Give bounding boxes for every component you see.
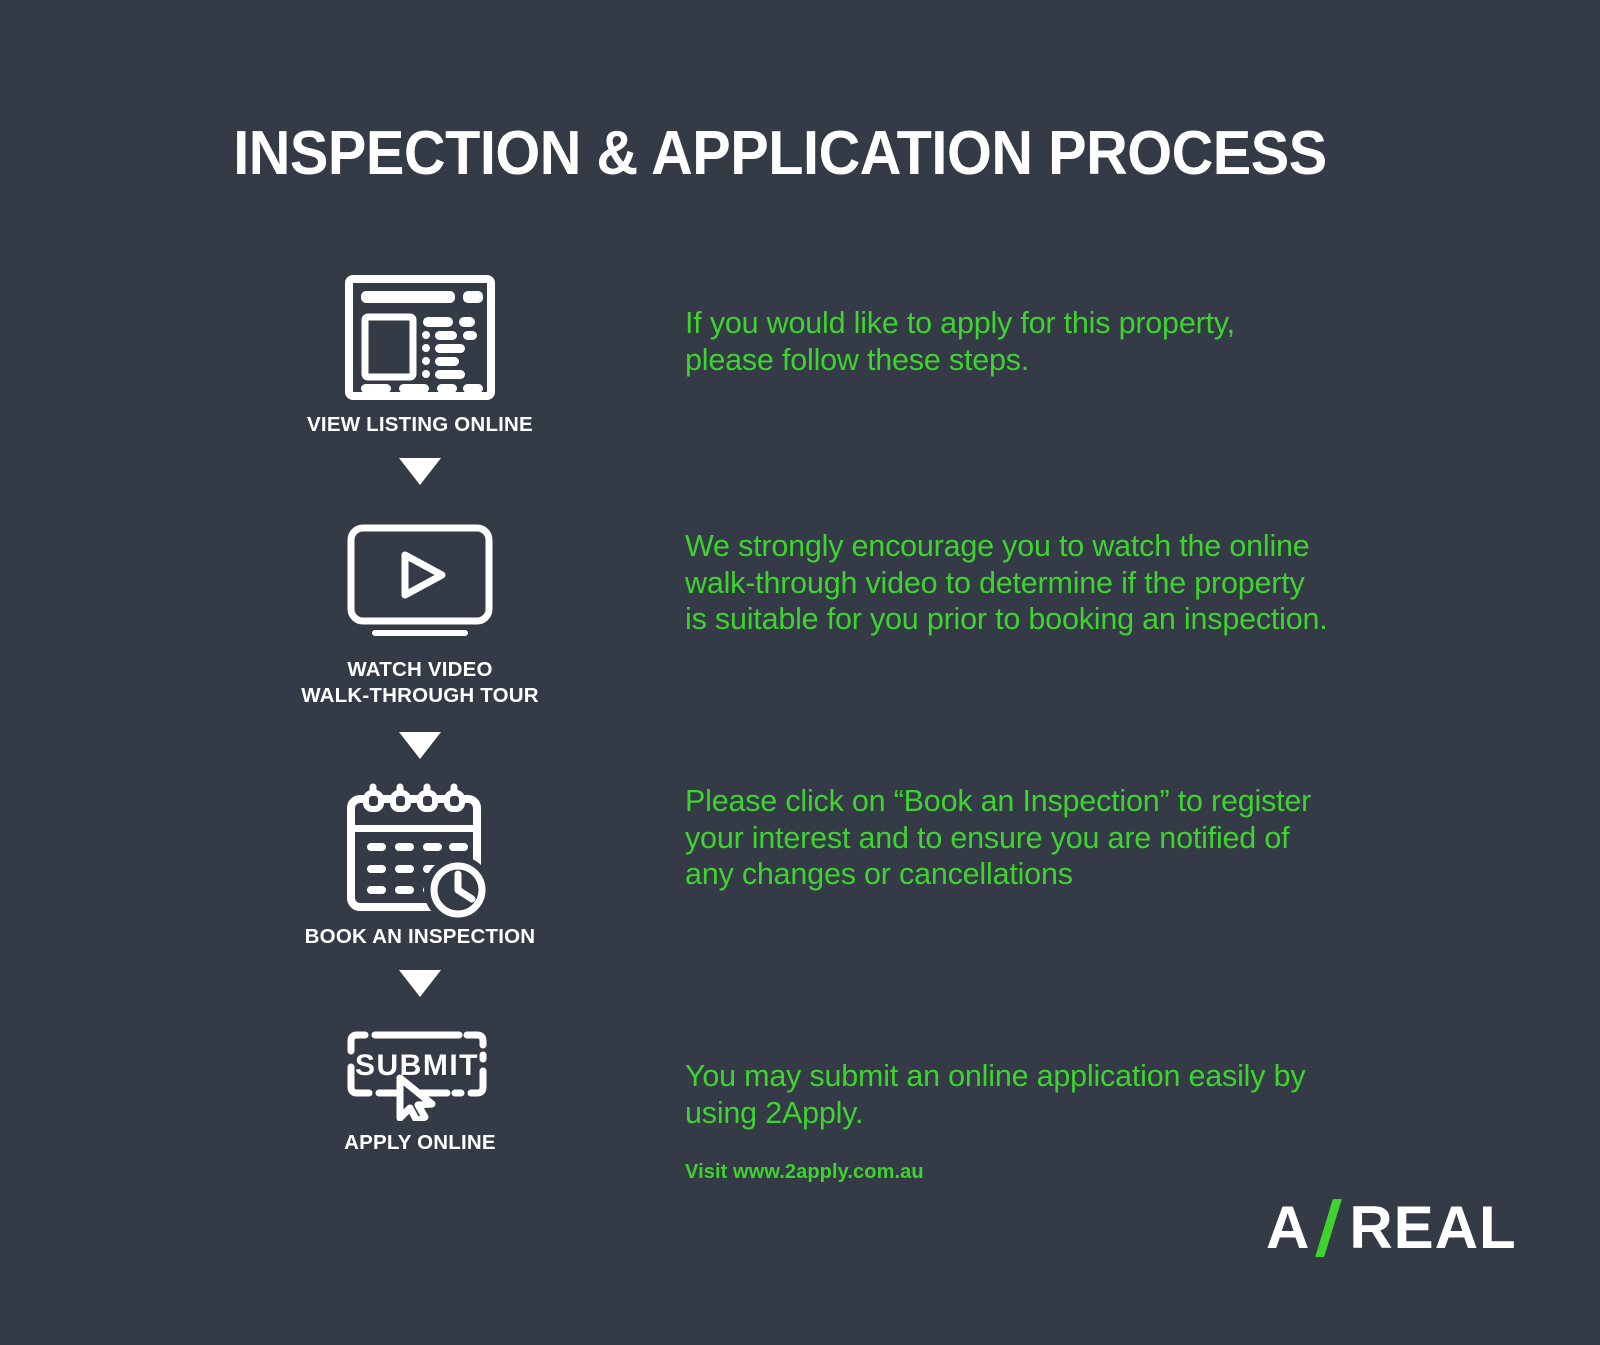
logo-letter-a: A (1266, 1198, 1310, 1258)
arrow-down-triangle-icon (270, 458, 570, 485)
calendar-clock-icon (270, 779, 570, 924)
step-copy-view-listing: If you would like to apply for this prop… (685, 305, 1445, 378)
step-book-inspection: BOOK AN INSPECTION (270, 779, 570, 950)
video-play-screen-icon (270, 507, 570, 657)
steps-column: VIEW LISTING ONLINE WATCH VIDEO WALK-THR… (270, 262, 570, 1156)
step-label: APPLY ONLINE (270, 1130, 570, 1156)
step-copy-book-inspection: Please click on “Book an Inspection” to … (685, 783, 1445, 893)
infographic-page: INSPECTION & APPLICATION PROCESS (0, 0, 1600, 1345)
step-view-listing-online: VIEW LISTING ONLINE (270, 262, 570, 438)
step-label: WATCH VIDEO WALK-THROUGH TOUR (270, 657, 570, 709)
visit-url-link[interactable]: Visit www.2apply.com.au (685, 1161, 924, 1184)
step-label: VIEW LISTING ONLINE (270, 412, 570, 438)
browser-listing-icon (270, 262, 570, 412)
arrow-down-triangle-icon (270, 970, 570, 997)
brand-logo: A REAL (1266, 1197, 1517, 1259)
logo-word-real: REAL (1349, 1198, 1516, 1258)
step-apply-online: SUBMIT APPLY ONLINE (270, 1019, 570, 1156)
submit-button-cursor-icon: SUBMIT (270, 1019, 570, 1124)
page-title: INSPECTION & APPLICATION PROCESS (55, 118, 1506, 189)
svg-text:SUBMIT: SUBMIT (355, 1049, 479, 1082)
logo-slash-icon (1315, 1199, 1342, 1257)
arrow-down-triangle-icon (270, 732, 570, 759)
step-watch-video: WATCH VIDEO WALK-THROUGH TOUR (270, 507, 570, 709)
step-copy-watch-video: We strongly encourage you to watch the o… (685, 528, 1445, 638)
step-copy-apply-online: You may submit an online application eas… (685, 1058, 1445, 1131)
step-label: BOOK AN INSPECTION (270, 924, 570, 950)
